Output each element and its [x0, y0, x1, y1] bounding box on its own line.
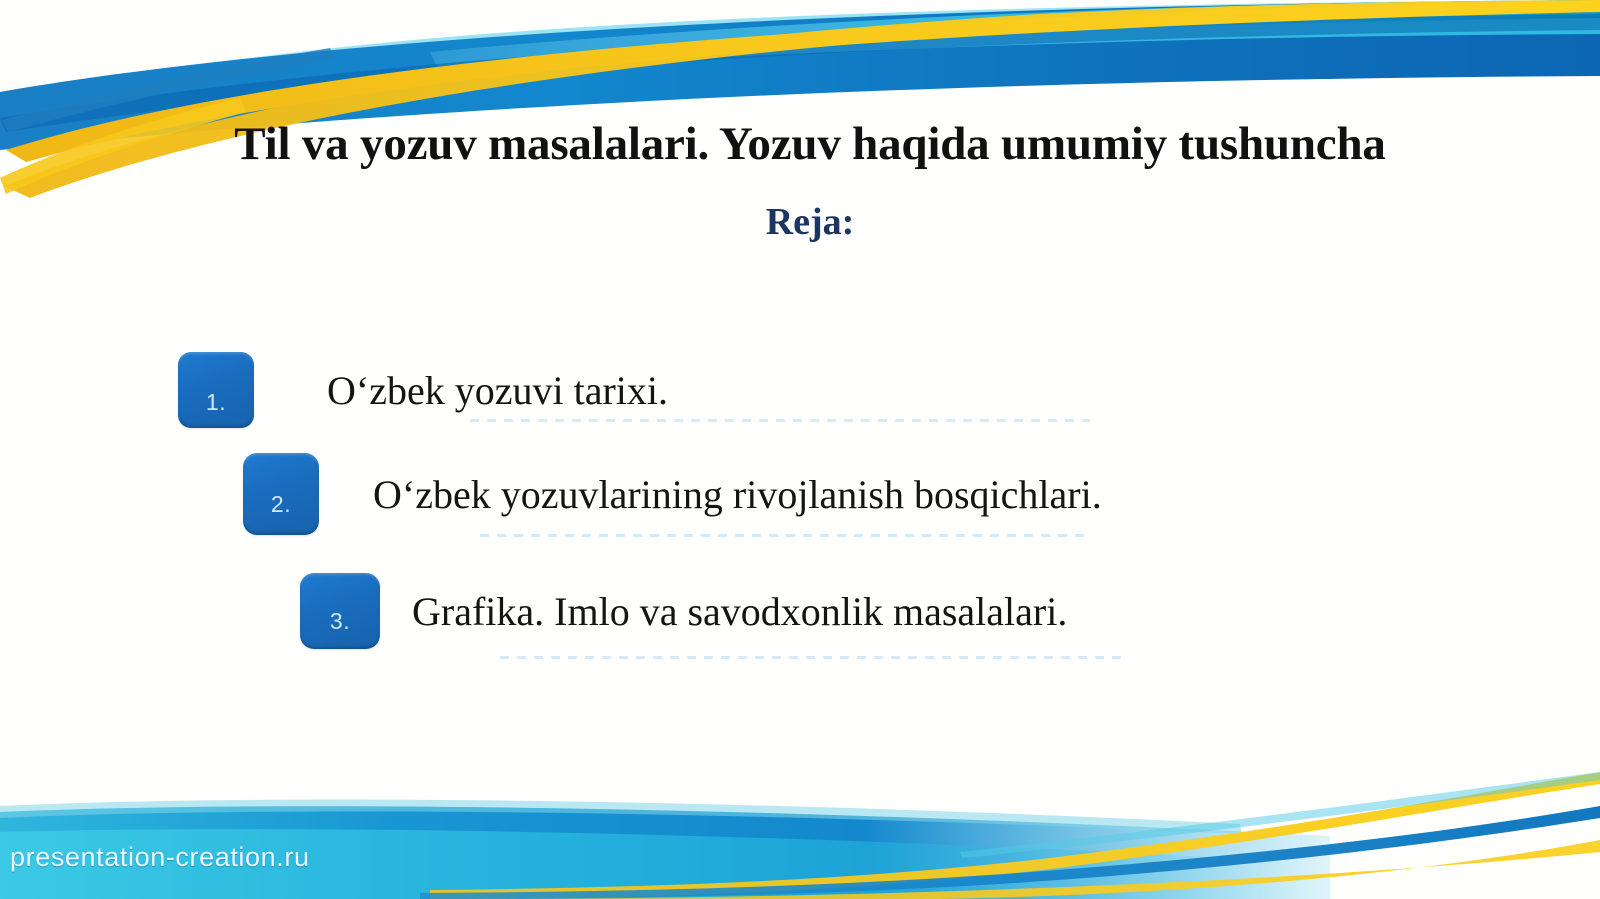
badge-number-label: 3.: [300, 608, 380, 635]
presentation-slide: Til va yozuv masalalari. Yozuv haqida um…: [0, 0, 1600, 899]
badge-number-label: 1.: [178, 389, 254, 416]
list-item[interactable]: 2. O‘zbek yozuvlarining rivojlanish bosq…: [243, 453, 1102, 535]
list-item-text: O‘zbek yozuvlarining rivojlanish bosqich…: [373, 471, 1102, 518]
list-item-text: O‘zbek yozuvi tarixi.: [327, 367, 668, 414]
item-underline: [500, 656, 1124, 659]
number-badge: 3.: [300, 573, 380, 649]
number-badge: 1.: [178, 352, 254, 428]
badge-number-label: 2.: [243, 491, 319, 518]
list-item-text: Grafika. Imlo va savodxonlik masalalari.: [412, 588, 1067, 635]
list-item[interactable]: 3. Grafika. Imlo va savodxonlik masalala…: [300, 573, 1067, 649]
agenda-list: 1. O‘zbek yozuvi tarixi. 2. O‘zbek yozuv…: [0, 0, 1600, 899]
list-item[interactable]: 1. O‘zbek yozuvi tarixi.: [178, 352, 668, 428]
watermark-label: presentation-creation.ru: [10, 842, 310, 873]
number-badge: 2.: [243, 453, 319, 535]
